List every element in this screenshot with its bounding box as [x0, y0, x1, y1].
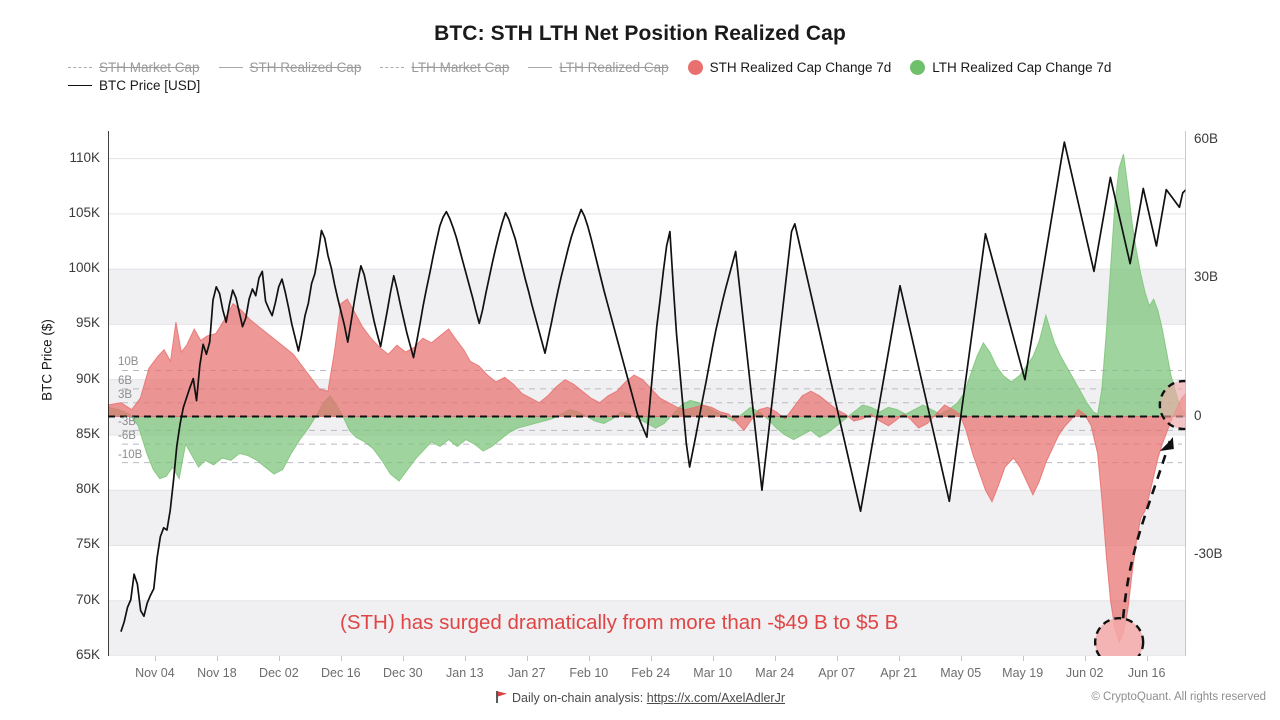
legend-item-2[interactable]: LTH Market Cap	[380, 60, 509, 75]
x-tick-mark-13	[961, 656, 962, 661]
flag-icon	[495, 690, 508, 707]
legend-line-icon	[68, 85, 92, 86]
legend-item-label: STH Realized Cap	[250, 60, 362, 75]
legend-item-label: LTH Market Cap	[411, 60, 509, 75]
legend-item-label: STH Realized Cap Change 7d	[710, 60, 892, 75]
x-tick-mark-2	[279, 656, 280, 661]
x-tick-mark-5	[465, 656, 466, 661]
x-tick-mark-1	[217, 656, 218, 661]
legend-line-icon	[68, 67, 92, 68]
inner-gridline-label--10B: -10B	[118, 449, 142, 461]
x-tick-mark-14	[1023, 656, 1024, 661]
legend-item-4[interactable]: STH Realized Cap Change 7d	[688, 60, 892, 75]
legend-item-3[interactable]: LTH Realized Cap	[528, 60, 668, 75]
y-tick-right-3: -30B	[1194, 546, 1264, 561]
legend-item-label: STH Market Cap	[99, 60, 200, 75]
inner-gridline-label-6B: 6B	[118, 375, 132, 387]
x-tick-mark-15	[1085, 656, 1086, 661]
legend-item-label: LTH Realized Cap	[559, 60, 668, 75]
footer-credit: Daily on-chain analysis: https://x.com/A…	[0, 690, 1280, 707]
y-tick-left-6: 95K	[40, 315, 100, 330]
legend-line-icon	[219, 67, 243, 68]
y-tick-left-0: 65K	[40, 647, 100, 662]
y-tick-left-4: 85K	[40, 426, 100, 441]
legend-item-label: LTH Realized Cap Change 7d	[932, 60, 1111, 75]
plot-area[interactable]	[108, 131, 1186, 656]
y-tick-right-1: 30B	[1194, 269, 1264, 284]
x-tick-mark-9	[713, 656, 714, 661]
x-tick-mark-7	[589, 656, 590, 661]
credit-prefix: Daily on-chain analysis:	[512, 691, 647, 705]
legend-item-0[interactable]: STH Market Cap	[68, 60, 200, 75]
background-band-0	[108, 269, 1186, 324]
page-title: BTC: STH LTH Net Position Realized Cap	[0, 22, 1280, 46]
chart-annotation: (STH) has surged dramatically from more …	[340, 611, 898, 635]
y-axis-title-left: BTC Price ($)	[39, 319, 54, 401]
x-tick-mark-4	[403, 656, 404, 661]
chart-legend[interactable]: STH Market CapSTH Realized CapLTH Market…	[68, 60, 1218, 93]
credit-link[interactable]: https://x.com/AxelAdlerJr	[647, 691, 785, 705]
y-tick-right-0: 60B	[1194, 131, 1264, 146]
y-tick-left-8: 105K	[40, 205, 100, 220]
y-tick-left-9: 110K	[40, 150, 100, 165]
x-tick-mark-6	[527, 656, 528, 661]
y-tick-left-7: 100K	[40, 260, 100, 275]
x-tick-mark-0	[155, 656, 156, 661]
inner-gridline-label--3B: -3B	[118, 416, 136, 428]
inner-gridline-label--6B: -6B	[118, 430, 136, 442]
x-tick-mark-10	[775, 656, 776, 661]
x-tick-mark-8	[651, 656, 652, 661]
legend-item-label: BTC Price [USD]	[99, 78, 200, 93]
chart-root: BTC: STH LTH Net Position Realized Cap S…	[0, 0, 1280, 720]
x-tick-mark-16	[1147, 656, 1148, 661]
legend-dot-icon	[910, 60, 925, 75]
legend-item-6[interactable]: BTC Price [USD]	[68, 78, 1218, 93]
y-tick-left-3: 80K	[40, 481, 100, 496]
y-tick-right-2: 0	[1194, 408, 1264, 423]
background-band-2	[108, 490, 1186, 545]
legend-line-icon	[528, 67, 552, 68]
legend-item-5[interactable]: LTH Realized Cap Change 7d	[910, 60, 1111, 75]
x-tick-mark-12	[899, 656, 900, 661]
y-tick-left-5: 90K	[40, 371, 100, 386]
copyright-notice: © CryptoQuant. All rights reserved	[1091, 691, 1266, 703]
plot-svg	[108, 131, 1186, 656]
legend-dot-icon	[688, 60, 703, 75]
legend-line-icon	[380, 67, 404, 68]
legend-item-1[interactable]: STH Realized Cap	[219, 60, 362, 75]
inner-gridline-label-10B: 10B	[118, 356, 138, 368]
inner-gridline-label-3B: 3B	[118, 389, 132, 401]
y-tick-left-2: 75K	[40, 536, 100, 551]
x-tick-mark-3	[341, 656, 342, 661]
x-tick-mark-11	[837, 656, 838, 661]
y-tick-left-1: 70K	[40, 592, 100, 607]
x-tick-16: Jun 16	[1107, 666, 1187, 680]
